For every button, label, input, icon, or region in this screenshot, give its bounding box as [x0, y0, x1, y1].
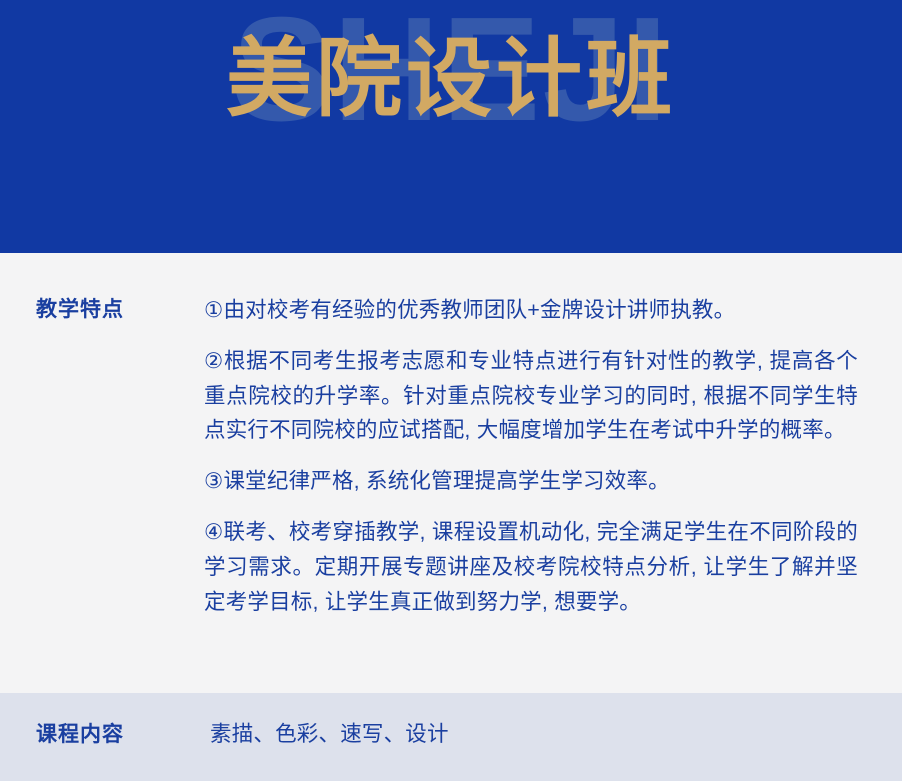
feature-item: ①由对校考有经验的优秀教师团队+金牌设计讲师执教。 — [204, 293, 858, 328]
course-detail-page: SHEJI 美院设计班 教学特点 ①由对校考有经验的优秀教师团队+金牌设计讲师执… — [0, 0, 902, 781]
course-content-label: 课程内容 — [36, 718, 204, 751]
course-content-section: 课程内容 素描、色彩、速写、设计 — [0, 693, 902, 781]
teaching-features-list: ①由对校考有经验的优秀教师团队+金牌设计讲师执教。 ②根据不同考生报考志愿和专业… — [204, 293, 858, 620]
feature-item: ②根据不同考生报考志愿和专业特点进行有针对性的教学, 提高各个重点院校的升学率。… — [204, 344, 858, 448]
teaching-features-section: 教学特点 ①由对校考有经验的优秀教师团队+金牌设计讲师执教。 ②根据不同考生报考… — [0, 253, 902, 693]
feature-item: ④联考、校考穿插教学, 课程设置机动化, 完全满足学生在不同阶段的学习需求。定期… — [204, 515, 858, 619]
teaching-features-label: 教学特点 — [36, 293, 204, 326]
feature-item: ③课堂纪律严格, 系统化管理提高学生学习效率。 — [204, 464, 858, 499]
course-content-row: 课程内容 素描、色彩、速写、设计 — [36, 718, 858, 751]
teaching-features-row: 教学特点 ①由对校考有经验的优秀教师团队+金牌设计讲师执教。 ②根据不同考生报考… — [36, 293, 858, 620]
hero-banner: SHEJI 美院设计班 — [0, 0, 902, 253]
hero-title: 美院设计班 — [0, 34, 902, 125]
course-content-value: 素描、色彩、速写、设计 — [204, 718, 449, 750]
